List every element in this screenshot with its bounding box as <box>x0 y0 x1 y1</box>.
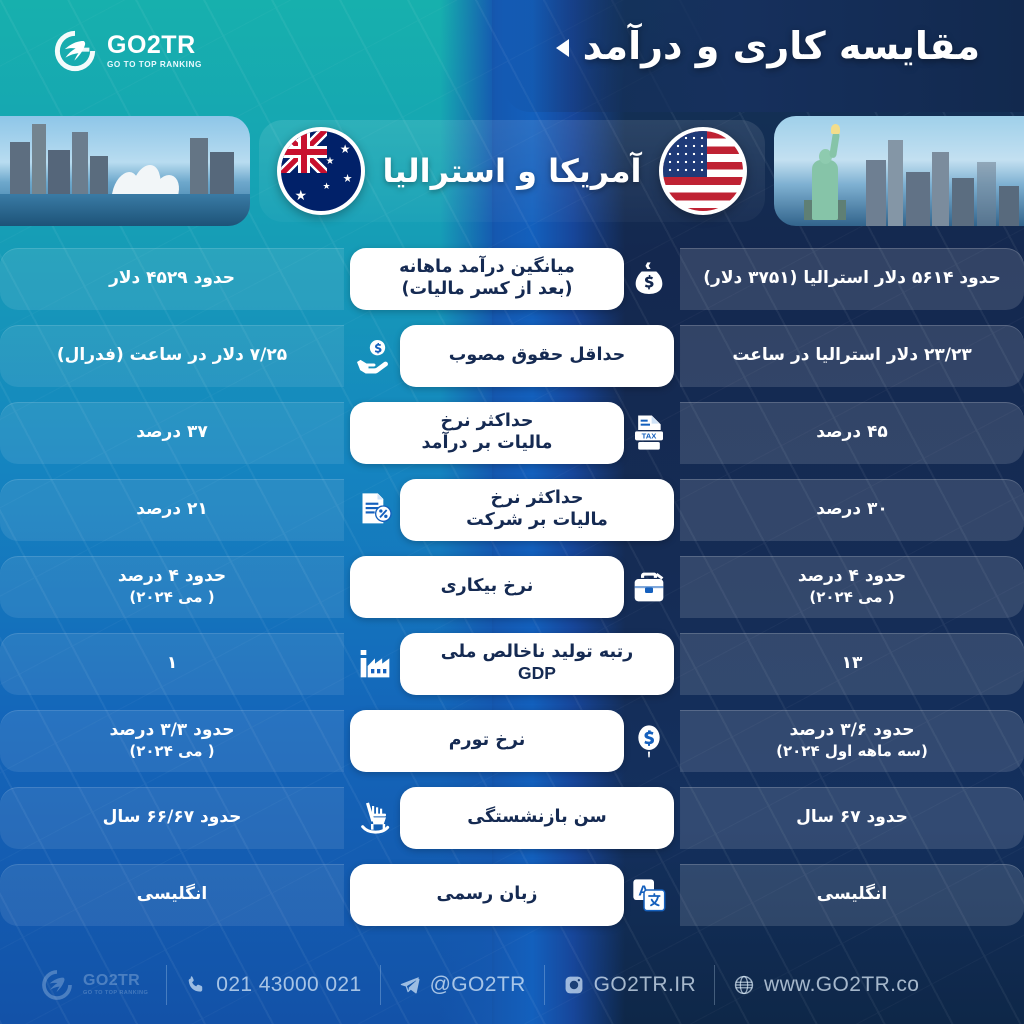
australia-flag-icon: ★ ★ ★ ★ ★ <box>277 127 365 215</box>
australia-value-cell: ۴۵ درصد <box>680 402 1024 464</box>
row-center: حداکثر نرخ مالیات بر شرکت <box>344 476 680 544</box>
table-row: حدود ۴ درصد ( می ۲۰۲۴) نرخ بیکاری حدود ۴… <box>0 548 1024 625</box>
australia-value-cell: انگلیسی <box>680 864 1024 926</box>
usa-value-sub: ( می ۲۰۲۴) <box>110 742 235 762</box>
table-row: ۴۵ درصد حداکثر نرخ مالیات بر درآمد TAX ۳… <box>0 394 1024 471</box>
usa-value-sub: ( می ۲۰۲۴) <box>118 588 226 608</box>
usa-value: حدود ۴ درصد <box>118 566 226 586</box>
row-label-card: حداکثر نرخ مالیات بر درآمد <box>350 402 624 464</box>
row-label-card: نرخ تورم <box>350 710 624 772</box>
usa-value: ۱ <box>167 653 177 673</box>
money-bag-icon <box>618 248 680 310</box>
footer-phone-text: 021 43000 021 <box>216 973 361 997</box>
row-center: نرخ تورم <box>344 707 680 775</box>
usa-value-cell: ۳۷ درصد <box>0 402 344 464</box>
comparison-rows: حدود ۵۶۱۴ دلار استرالیا (۳۷۵۱ دلار) میان… <box>0 240 1024 933</box>
row-center: زبان رسمی A <box>344 861 680 929</box>
usa-value: ۷/۲۵ دلار در ساعت (فدرال) <box>57 345 287 365</box>
page-title-text: مقایسه کاری و درآمد <box>583 24 980 68</box>
row-label-sub: (بعد از کسر مالیات) <box>401 279 572 299</box>
row-label-card: زبان رسمی <box>350 864 624 926</box>
row-label: حداقل حقوق مصوب <box>449 345 625 366</box>
header: GO2TR GO TO TOP RANKING مقایسه کاری و در… <box>0 0 1024 112</box>
australia-value-cell: حدود ۵۶۱۴ دلار استرالیا (۳۷۵۱ دلار) <box>680 248 1024 310</box>
australia-value-sub: ( می ۲۰۲۴) <box>798 588 906 608</box>
dollar-balloon-icon <box>618 710 680 772</box>
usa-value: انگلیسی <box>137 884 207 904</box>
table-row: حدود ۵۶۱۴ دلار استرالیا (۳۷۵۱ دلار) میان… <box>0 240 1024 317</box>
australia-value-sub: (سه ماهه اول ۲۰۲۴) <box>776 742 928 762</box>
opera-house-shape <box>112 162 186 196</box>
footer-contact-bar: GO2TR GO TO TOP RANKING 021 43000 021 @G… <box>0 946 1024 1024</box>
table-row: ۳۰ درصد حداکثر نرخ مالیات بر شرکت ۲۱ درص… <box>0 471 1024 548</box>
page-title: مقایسه کاری و درآمد <box>556 24 980 68</box>
country-pair-label: آمریکا و استرالیا <box>383 152 642 190</box>
globe-icon <box>733 974 755 996</box>
briefcase-icon <box>618 556 680 618</box>
australia-value: حدود ۵۶۱۴ دلار استرالیا (۳۷۵۱ دلار) <box>703 268 1000 288</box>
brand-logo-text: GO2TR GO TO TOP RANKING <box>107 33 202 69</box>
usa-value: ۲۱ درصد <box>136 499 207 519</box>
table-row: ۲۳/۲۳ دلار استرالیا در ساعت حداقل حقوق م… <box>0 317 1024 394</box>
row-center: رتبه تولید ناخالص ملی GDP <box>344 630 680 698</box>
instagram-icon <box>563 974 585 996</box>
new-york-skyline-photo <box>774 116 1024 226</box>
row-label: سن بازنشستگی <box>467 807 606 828</box>
australia-value: ۳۰ درصد <box>816 499 887 519</box>
table-row: انگلیسی زبان رسمی A انگلیسی <box>0 856 1024 933</box>
row-center: نرخ بیکاری <box>344 553 680 621</box>
usa-value-cell: ۷/۲۵ دلار در ساعت (فدرال) <box>0 325 344 387</box>
footer-phone[interactable]: 021 43000 021 <box>167 962 379 1008</box>
rocking-chair-icon <box>344 787 406 849</box>
brand-logo: GO2TR GO TO TOP RANKING <box>52 28 202 74</box>
row-label-sub: مالیات بر شرکت <box>466 510 608 530</box>
row-label-card: میانگین درآمد ماهانه (بعد از کسر مالیات) <box>350 248 624 310</box>
statue-of-liberty-shape <box>800 128 852 220</box>
row-label-card: نرخ بیکاری <box>350 556 624 618</box>
phone-icon <box>185 974 207 996</box>
australia-value-cell: ۲۳/۲۳ دلار استرالیا در ساعت <box>680 325 1024 387</box>
row-center: حداکثر نرخ مالیات بر درآمد TAX <box>344 399 680 467</box>
table-row: حدود ۳/۶ درصد (سه ماهه اول ۲۰۲۴) نرخ تور… <box>0 702 1024 779</box>
australia-value-cell: ۳۰ درصد <box>680 479 1024 541</box>
usa-value-cell: ۲۱ درصد <box>0 479 344 541</box>
row-label-card: حداکثر نرخ مالیات بر شرکت <box>400 479 674 541</box>
australia-value: حدود ۶۷ سال <box>796 807 908 827</box>
usa-value-cell: ۱ <box>0 633 344 695</box>
svg-text:TAX: TAX <box>642 431 658 440</box>
go2tr-swoosh-logo-icon <box>52 28 98 74</box>
footer-instagram-text: GO2TR.IR <box>594 973 696 997</box>
australia-value-cell: حدود ۳/۶ درصد (سه ماهه اول ۲۰۲۴) <box>680 710 1024 772</box>
telegram-icon <box>399 974 421 996</box>
australia-value: حدود ۴ درصد <box>798 566 906 586</box>
table-row: حدود ۶۷ سال سن بازنشستگی حدود ۶۶/۶۷ سال <box>0 779 1024 856</box>
go2tr-swoosh-logo-icon <box>40 968 74 1002</box>
usa-value-cell: حدود ۴ درصد ( می ۲۰۲۴) <box>0 556 344 618</box>
row-label-sub: مالیات بر درآمد <box>422 433 553 453</box>
australia-value-cell: حدود ۴ درصد ( می ۲۰۲۴) <box>680 556 1024 618</box>
footer-telegram-text: @GO2TR <box>430 973 526 997</box>
row-center: سن بازنشستگی <box>344 784 680 852</box>
sydney-skyline-photo <box>0 116 250 226</box>
triangle-bullet-icon <box>556 39 569 57</box>
usa-value: حدود ۴۵۲۹ دلار <box>109 268 235 288</box>
footer-brand-tagline: GO TO TOP RANKING <box>83 991 148 997</box>
usa-value-cell: حدود ۳/۳ درصد ( می ۲۰۲۴) <box>0 710 344 772</box>
footer-website-text: www.GO2TR.co <box>764 973 919 997</box>
row-center: میانگین درآمد ماهانه (بعد از کسر مالیات) <box>344 245 680 313</box>
usa-value: ۳۷ درصد <box>136 422 207 442</box>
usa-flag-icon <box>659 127 747 215</box>
row-label-sub: GDP <box>518 663 556 683</box>
country-title-pill: آمریکا و استرالیا ★ ★ ★ ★ ★ <box>259 120 765 222</box>
footer-brand-name: GO2TR <box>83 973 148 989</box>
row-label-card: سن بازنشستگی <box>400 787 674 849</box>
table-row: ۱۳ رتبه تولید ناخالص ملی GDP ۱ <box>0 625 1024 702</box>
australia-value-cell: ۱۳ <box>680 633 1024 695</box>
brand-name: GO2TR <box>107 33 202 58</box>
factory-icon <box>344 633 406 695</box>
row-label: نرخ بیکاری <box>441 576 534 597</box>
footer-telegram[interactable]: @GO2TR <box>381 962 544 1008</box>
australia-value: ۴۵ درصد <box>816 422 887 442</box>
translate-language-icon: A <box>618 864 680 926</box>
footer-instagram[interactable]: GO2TR.IR <box>545 962 714 1008</box>
row-label: حداکثر نرخ <box>490 488 583 508</box>
brand-tagline: GO TO TOP RANKING <box>107 61 202 69</box>
infographic-poster: GO2TR GO TO TOP RANKING مقایسه کاری و در… <box>0 0 1024 1024</box>
row-label-card: رتبه تولید ناخالص ملی GDP <box>400 633 674 695</box>
row-label: زبان رسمی <box>437 884 538 905</box>
australia-value: ۱۳ <box>842 653 863 673</box>
row-label: حداکثر نرخ <box>440 411 533 431</box>
usa-value-cell: حدود ۶۶/۶۷ سال <box>0 787 344 849</box>
usa-value-cell: حدود ۴۵۲۹ دلار <box>0 248 344 310</box>
usa-value-cell: انگلیسی <box>0 864 344 926</box>
footer-logo: GO2TR GO TO TOP RANKING <box>32 962 166 1008</box>
hand-holding-coin-icon <box>344 325 406 387</box>
australia-value: انگلیسی <box>817 884 887 904</box>
australia-value-cell: حدود ۶۷ سال <box>680 787 1024 849</box>
usa-value: حدود ۶۶/۶۷ سال <box>103 807 242 827</box>
footer-website[interactable]: www.GO2TR.co <box>715 962 937 1008</box>
usa-value: حدود ۳/۳ درصد <box>110 720 235 740</box>
australia-value: ۲۳/۲۳ دلار استرالیا در ساعت <box>732 345 971 365</box>
row-label-card: حداقل حقوق مصوب <box>400 325 674 387</box>
row-center: حداقل حقوق مصوب <box>344 322 680 390</box>
row-label: میانگین درآمد ماهانه <box>399 257 575 277</box>
australia-value: حدود ۳/۶ درصد <box>790 720 915 740</box>
country-strip: آمریکا و استرالیا ★ ★ ★ ★ ★ <box>0 116 1024 226</box>
tax-document-icon: TAX <box>618 402 680 464</box>
row-label: نرخ تورم <box>449 730 526 751</box>
row-label: رتبه تولید ناخالص ملی <box>441 642 634 662</box>
corporate-tax-icon <box>344 479 406 541</box>
